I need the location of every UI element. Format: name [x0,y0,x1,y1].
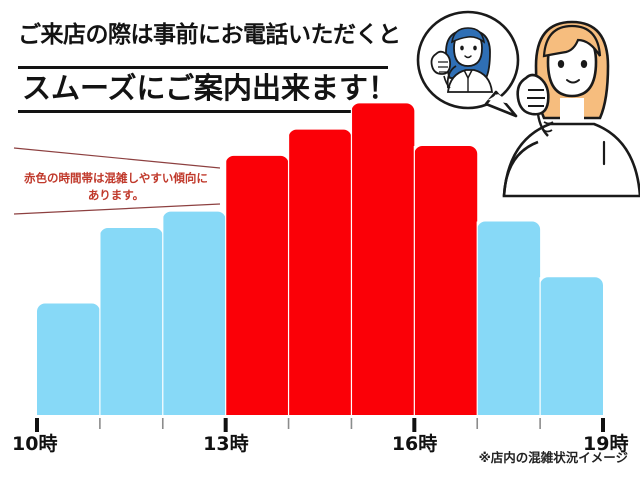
bar-18時 [540,277,603,415]
bar-foot-10時 [37,401,100,415]
customer-eye-left [558,60,564,68]
bar-11時 [100,228,163,415]
bar-foot-18時 [540,401,603,415]
axis-label-13時: 13時 [203,435,248,454]
bar-foot-13時 [226,401,289,415]
bar-foot-11時 [100,401,163,415]
chart-footnote: ※店内の混雑状況イメージ [479,452,628,465]
bar-foot-16時 [414,401,477,415]
phone-call-illustration [408,0,640,200]
bar-15時 [351,103,414,415]
bar-12時 [163,212,226,415]
bar-foot-17時 [477,401,540,415]
staff-eye-right [473,46,477,51]
congestion-infographic: ご来店の際は事前にお電話いただくと スムーズにご案内出来ます！ 赤色の時間帯は混… [0,0,640,480]
bar-10時 [37,303,100,415]
bar-14時 [289,130,352,415]
staff-eye-left [460,46,464,51]
bar-13時 [226,156,289,415]
bar-17時 [477,221,540,415]
bar-foot-14時 [289,401,352,415]
customer-eye-right [581,60,587,68]
axis-label-16時: 16時 [392,435,437,454]
chart-axis [37,418,603,432]
bar-foot-15時 [351,401,414,415]
axis-label-10時: 10時 [12,435,57,454]
bar-foot-12時 [163,401,226,415]
customer-on-phone [504,22,640,196]
